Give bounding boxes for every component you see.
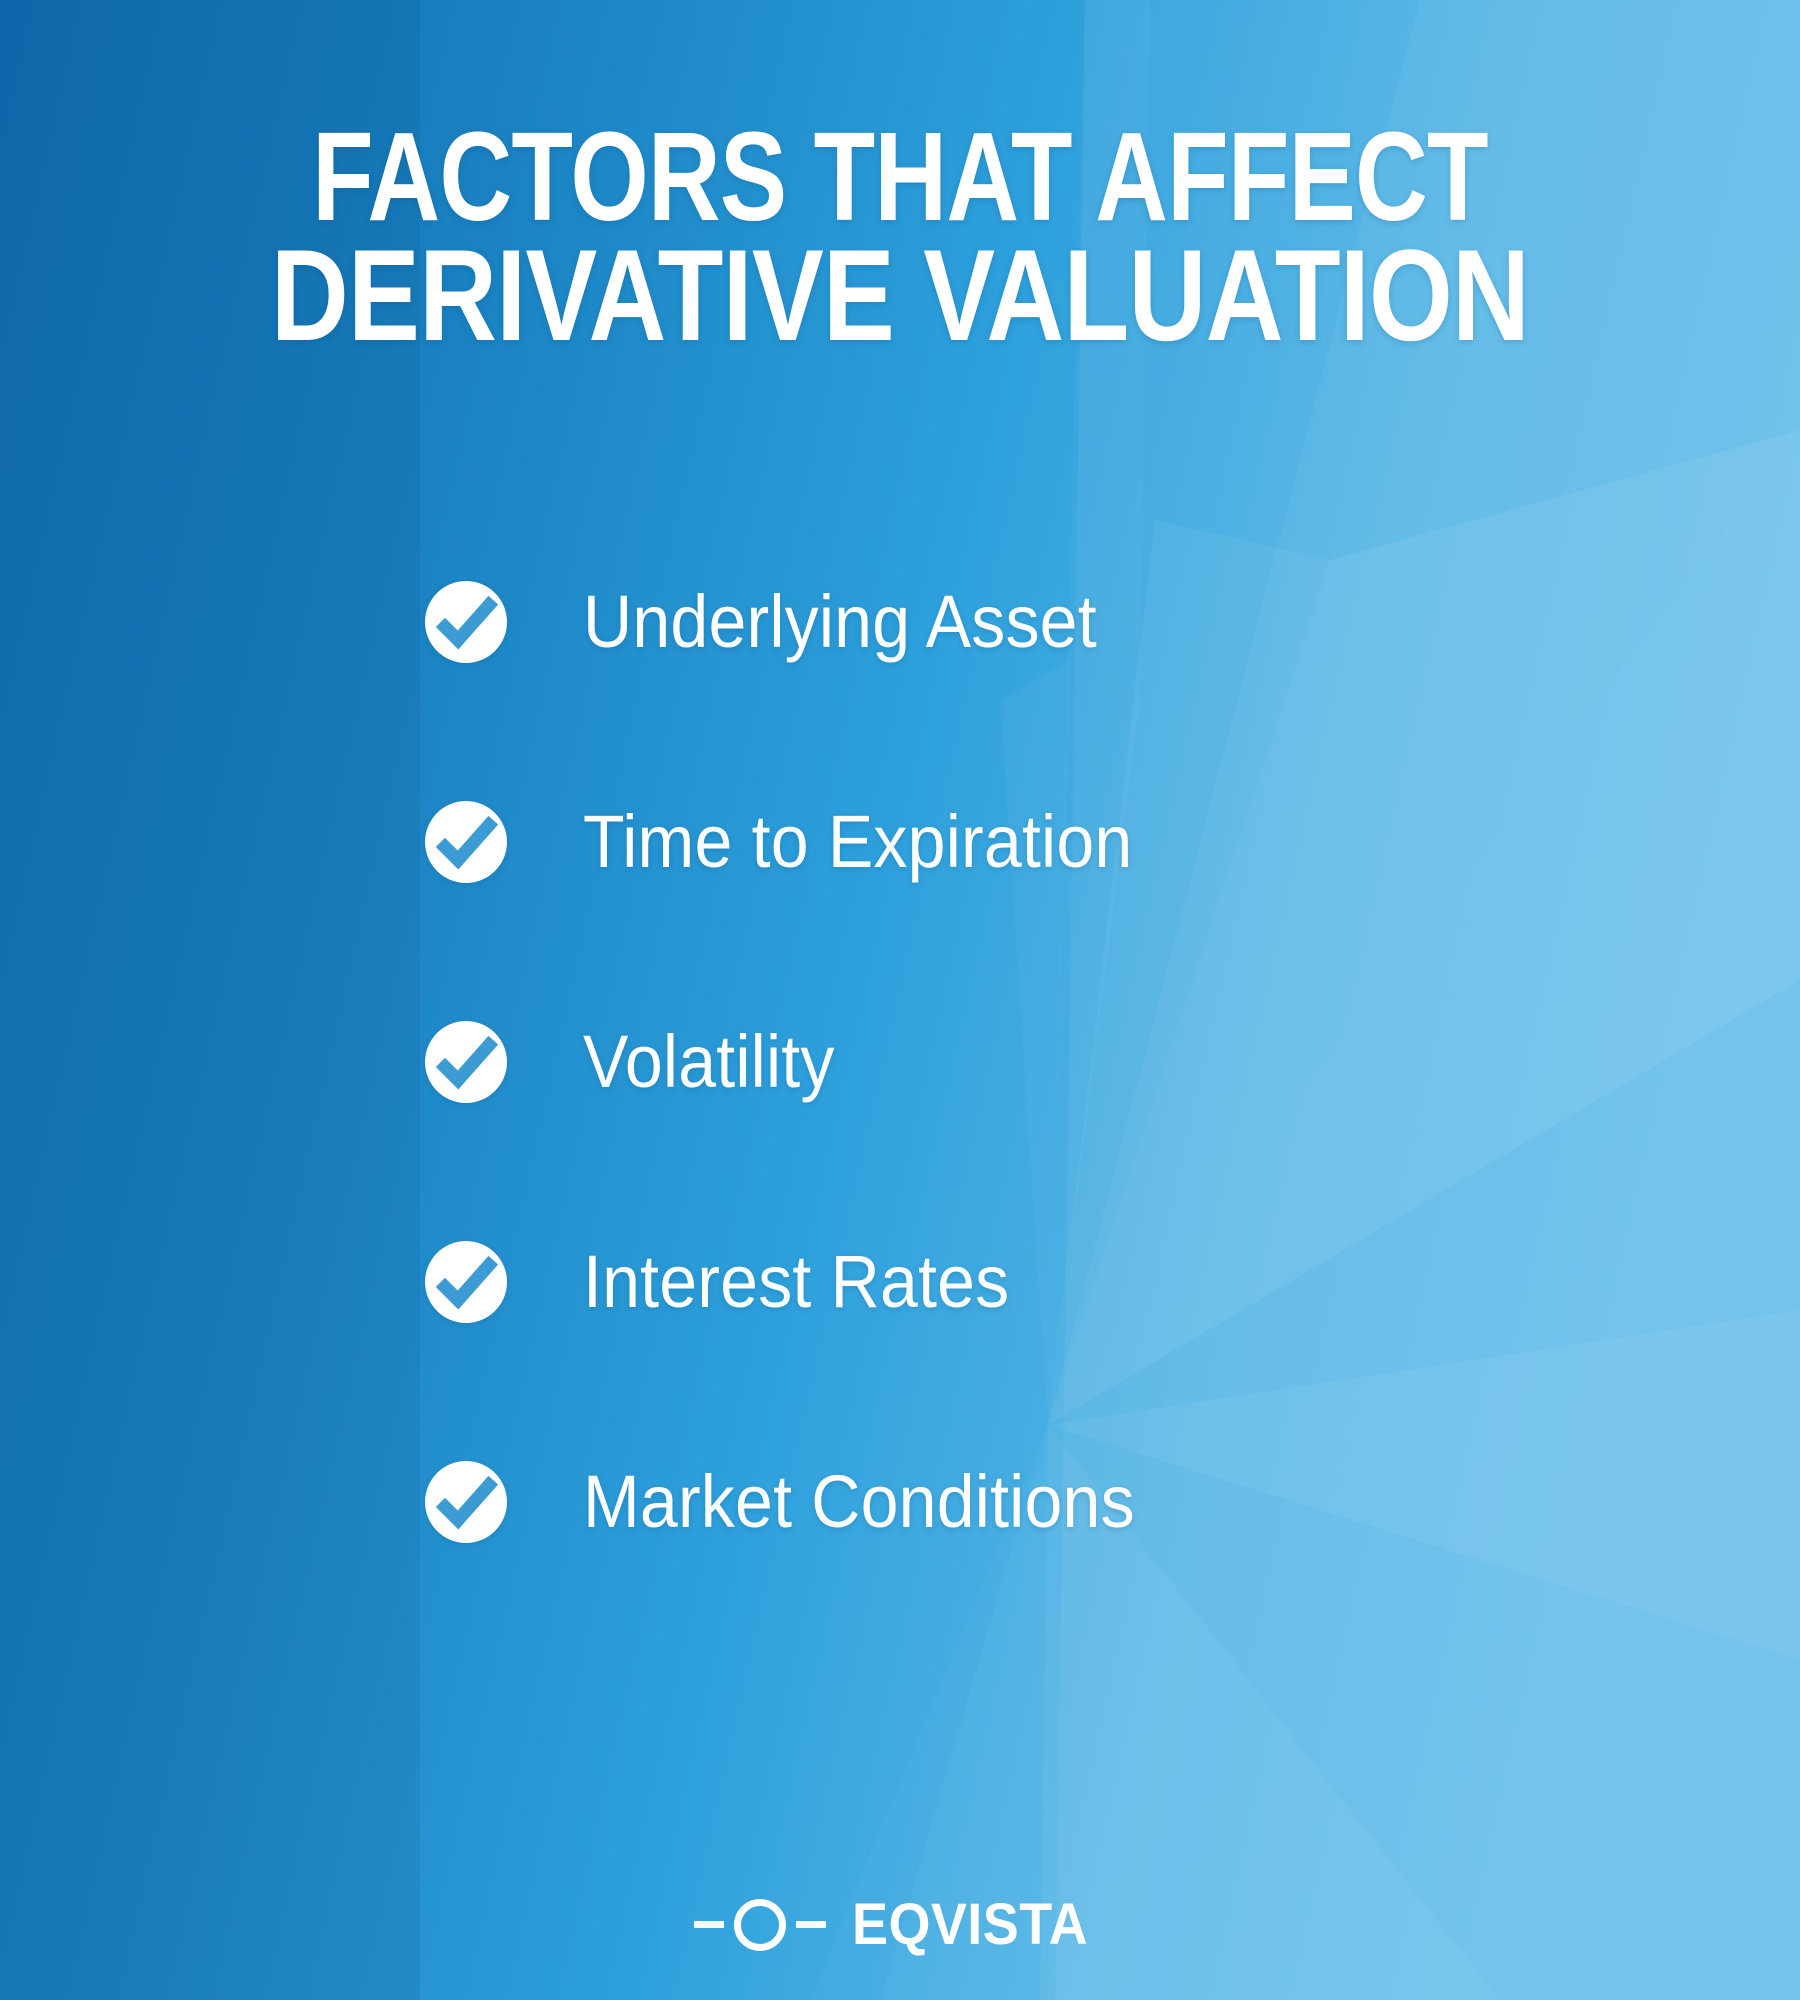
factors-list: Underlying Asset Time to Expiration Vola… [425,580,1183,1544]
list-item: Volatility [425,1020,1183,1104]
list-item: Interest Rates [425,1240,1183,1324]
list-item: Underlying Asset [425,580,1183,664]
check-circle-icon [425,581,507,663]
logo-dash-left [694,1921,724,1928]
list-item-label: Market Conditions [583,1463,1135,1541]
brand-name: EQVISTA [852,1891,1088,1958]
title-line-1: FACTORS THAT AFFECT [276,118,1524,236]
list-item-label: Underlying Asset [583,583,1097,661]
infographic-canvas: FACTORS THAT AFFECT DERIVATIVE VALUATION… [0,0,1800,2000]
page-title: FACTORS THAT AFFECT DERIVATIVE VALUATION [0,118,1800,354]
check-circle-icon [425,1241,507,1323]
logo-dash-right [796,1921,826,1928]
list-item-label: Time to Expiration [583,803,1132,881]
check-circle-icon [425,1461,507,1543]
list-item: Market Conditions [425,1460,1183,1544]
check-circle-icon [425,801,507,883]
brand-logo: EQVISTA [0,1891,1800,1958]
list-item-label: Interest Rates [583,1243,1009,1321]
check-circle-icon [425,1021,507,1103]
title-line-2: DERIVATIVE VALUATION [253,236,1548,354]
logo-ring [734,1899,786,1951]
list-item: Time to Expiration [425,800,1183,884]
list-item-label: Volatility [583,1023,835,1101]
dash-circle-dash-icon [694,1899,826,1951]
